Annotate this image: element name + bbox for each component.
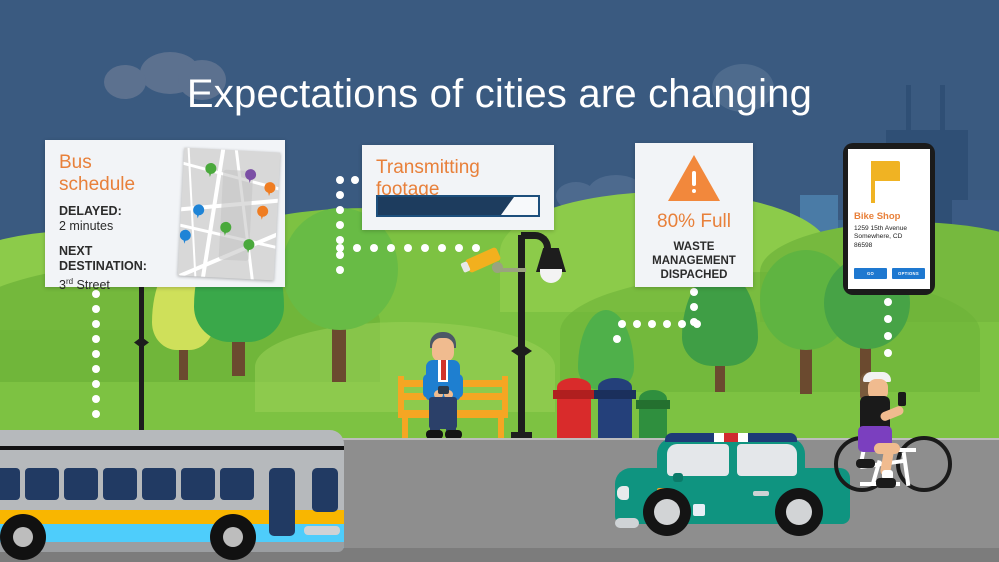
- connector-dot: [92, 350, 100, 358]
- bus-door: [312, 468, 338, 512]
- connector-dot: [336, 266, 344, 274]
- cyclist-shoe: [876, 478, 896, 488]
- bus-window: [181, 468, 215, 500]
- flag-red: [724, 433, 738, 442]
- connector-dot: [351, 176, 359, 184]
- bus-window: [103, 468, 137, 500]
- bin-body: [557, 392, 591, 440]
- car-rear-window: [737, 444, 797, 476]
- car-badge: [693, 504, 705, 516]
- connector-dot: [92, 410, 100, 418]
- waste-percent-full: 80% Full: [641, 211, 747, 233]
- bus-window: [0, 468, 20, 500]
- man-leg: [446, 412, 456, 432]
- connector-dot: [336, 191, 344, 199]
- connector-dot: [336, 176, 344, 184]
- cyclist-shoe: [856, 459, 875, 468]
- map-pin[interactable]: [179, 229, 191, 244]
- connector-dot: [336, 221, 344, 229]
- bus-window: [142, 468, 176, 500]
- connector-dot: [633, 320, 641, 328]
- next-destination-label: NEXT DESTINATION:: [59, 244, 167, 274]
- seated-man-with-phone: [418, 332, 468, 440]
- city-bus: [0, 430, 344, 556]
- connector-dot: [404, 244, 412, 252]
- man-arm: [453, 374, 463, 398]
- connector-dot: [353, 244, 361, 252]
- bus-window: [220, 468, 254, 500]
- map-pin[interactable]: [245, 169, 257, 184]
- destination-suffix: Street: [73, 278, 110, 292]
- destination-ordinal: rd: [66, 277, 73, 286]
- connector-dot: [370, 244, 378, 252]
- waste-status-line-2: MANAGEMENT: [641, 254, 747, 268]
- transmission-progress-fill: [378, 197, 514, 215]
- waste-status-line-1: WASTE: [641, 240, 747, 254]
- man-leg: [430, 412, 440, 432]
- slide-canvas: Expectations of cities are changing: [0, 0, 999, 562]
- flag-icon-pole: [871, 161, 875, 203]
- flag-icon: [875, 161, 900, 181]
- waste-status-line-3: DISPACHED: [641, 268, 747, 282]
- car-bumper: [615, 518, 639, 528]
- connector-dot: [663, 320, 671, 328]
- map-pin[interactable]: [220, 222, 232, 237]
- teal-mini-car-union-jack-roof: [615, 434, 850, 534]
- connector-dot: [336, 236, 344, 244]
- trash-bin-red: [557, 378, 591, 440]
- bus-bumper: [304, 526, 340, 535]
- trash-bin-navy: [598, 378, 632, 440]
- car-wheel-rear: [775, 488, 823, 536]
- connector-dot: [92, 320, 100, 328]
- bin-body: [598, 392, 632, 440]
- bin-lid: [636, 400, 670, 409]
- destination-number: 3: [59, 278, 66, 292]
- camera-mount-joint: [492, 262, 503, 273]
- car-door-handle: [753, 491, 769, 496]
- address-line-3: 86598: [854, 242, 872, 249]
- map-pin[interactable]: [205, 163, 217, 178]
- bus-schedule-title: Bus schedule: [59, 152, 169, 196]
- shop-address: 1259 15th Avenue Somewhere, CD 86598: [854, 225, 928, 250]
- flag-white: [714, 433, 724, 442]
- warning-triangle-icon: [668, 155, 720, 201]
- bus-schedule-card[interactable]: Bus schedule DELAYED: 2 minutes NEXT DES…: [45, 140, 285, 287]
- bin-lid: [553, 390, 595, 399]
- bus-wheel-rear: [210, 514, 256, 560]
- phone-action-buttons: GO OPTIONS: [854, 268, 925, 279]
- man-phone-icon: [438, 386, 449, 394]
- lamp-ornament: [511, 344, 532, 358]
- lamp-ornament: [134, 337, 149, 348]
- phone-screen[interactable]: Bike Shop 1259 15th Avenue Somewhere, CD…: [848, 149, 930, 289]
- connector-dot: [678, 320, 686, 328]
- connector-dot: [884, 298, 892, 306]
- lamp-bulb: [540, 269, 562, 283]
- connector-dot: [92, 305, 100, 313]
- connector-dot: [336, 206, 344, 214]
- shop-name: Bike Shop: [854, 211, 900, 222]
- connector-dot: [690, 288, 698, 296]
- connector-dot: [92, 380, 100, 388]
- map-pin[interactable]: [193, 204, 205, 219]
- bus-roof-line: [0, 446, 344, 450]
- address-line-1: 1259 15th Avenue: [854, 225, 907, 232]
- car-wheel-front: [643, 488, 691, 536]
- page-title: Expectations of cities are changing: [0, 72, 999, 117]
- flag-white: [738, 433, 748, 442]
- connector-dot: [387, 244, 395, 252]
- cyclist-with-phone: [830, 367, 960, 492]
- route-map[interactable]: [178, 148, 281, 281]
- bench-leg: [498, 418, 504, 440]
- map-pin[interactable]: [243, 239, 255, 254]
- connector-dot: [92, 365, 100, 373]
- flag-blue: [665, 433, 714, 442]
- connector-dot: [92, 335, 100, 343]
- address-line-2: Somewhere, CD: [854, 233, 902, 240]
- connector-dot: [884, 315, 892, 323]
- smartphone-device[interactable]: Bike Shop 1259 15th Avenue Somewhere, CD…: [843, 143, 935, 295]
- car-roof-union-jack: [665, 433, 797, 442]
- bench-armrest: [502, 376, 508, 418]
- connector-dot: [690, 318, 698, 326]
- connector-dot: [613, 335, 621, 343]
- car-windshield: [667, 444, 729, 476]
- bin-lid: [594, 390, 636, 399]
- connector-dot: [336, 251, 344, 259]
- bus-window: [64, 468, 98, 500]
- bus-wheel-front: [0, 514, 46, 560]
- connector-dot: [690, 303, 698, 311]
- car-headlight: [617, 486, 629, 500]
- connector-dot: [884, 332, 892, 340]
- connector-dot: [336, 244, 344, 252]
- man-head: [432, 338, 454, 362]
- connector-dot: [438, 244, 446, 252]
- connector-dot: [92, 395, 100, 403]
- connector-dot: [648, 320, 656, 328]
- man-tie: [441, 360, 446, 380]
- transmission-progress-bar: [376, 195, 540, 217]
- transmitting-footage-card[interactable]: Transmitting footage: [362, 145, 554, 230]
- map-pin[interactable]: [257, 205, 269, 220]
- go-button[interactable]: GO: [854, 268, 887, 279]
- camera-mount-arm: [500, 268, 526, 272]
- cctv-camera: [462, 248, 528, 288]
- bus-window: [25, 468, 59, 500]
- map-pin[interactable]: [264, 182, 276, 197]
- connector-dot: [618, 320, 626, 328]
- car-mirror: [673, 473, 683, 482]
- bus-door: [269, 468, 295, 536]
- connector-dot: [884, 349, 892, 357]
- man-arm: [423, 374, 433, 398]
- flag-blue: [748, 433, 797, 442]
- bench-leg: [402, 418, 408, 440]
- bench-armrest: [398, 376, 404, 418]
- trash-bin-green: [639, 390, 667, 440]
- connector-dot: [421, 244, 429, 252]
- cyclist-phone-icon: [898, 392, 906, 406]
- waste-management-card[interactable]: 80% Full WASTE MANAGEMENT DISPACHED: [635, 143, 753, 287]
- bus-skirt: [0, 542, 344, 552]
- options-button[interactable]: OPTIONS: [892, 268, 925, 279]
